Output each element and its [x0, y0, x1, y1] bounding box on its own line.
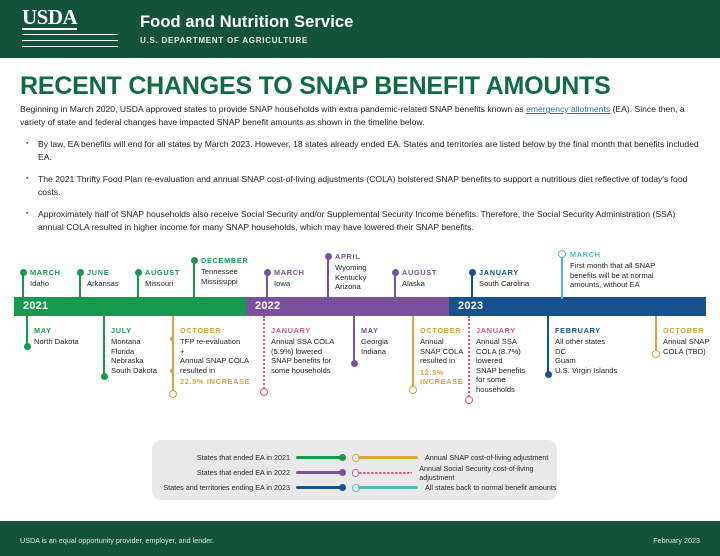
event-month: JULY — [111, 326, 181, 335]
timeline-dot-hollow — [169, 390, 177, 398]
legend-row-2022: States that ended EA in 2022 — [152, 466, 346, 479]
legend-row-2021: States that ended EA in 2021 — [152, 451, 346, 464]
timeline-stem — [26, 316, 28, 346]
timeline-dot — [325, 253, 332, 260]
timeline-dot-hollow — [558, 250, 566, 258]
event-january-2023-ssa-cola: JANUARY Annual SSA COLA (8.7%) lowered S… — [476, 326, 536, 395]
timeline-stem — [327, 256, 329, 299]
timeline-bar-2023: 2023 — [449, 297, 706, 316]
intro-paragraph: Beginning in March 2020, USDA approved s… — [20, 103, 700, 129]
timeline-dot-hollow — [652, 350, 660, 358]
event-august-2021: AUGUST Missouri — [145, 268, 205, 289]
timeline-dot-hollow — [409, 386, 417, 394]
event-body: TFP re-evaluation + Annual SNAP COLA res… — [180, 337, 252, 375]
footer-bar: USDA is an equal opportunity provider, e… — [0, 526, 720, 556]
event-body: North Dakota — [34, 337, 104, 347]
timeline-stem — [547, 316, 549, 374]
timeline-stem — [561, 255, 563, 299]
year-label-2023: 2023 — [458, 300, 483, 312]
event-august-2022: AUGUST Alaska — [402, 268, 457, 289]
event-highlight: 22.5% INCREASE — [180, 377, 252, 386]
legend-dot — [339, 469, 346, 476]
event-january-2022-ssa-cola: JANUARY Annual SSA COLA (5.9%) lowered S… — [271, 326, 349, 375]
event-month: JANUARY — [476, 326, 536, 335]
event-body: Alaska — [402, 279, 457, 289]
event-body: First month that all SNAP benefits will … — [570, 261, 700, 290]
timeline-dot — [351, 360, 358, 367]
timeline-stem — [137, 272, 139, 299]
legend-line-solid — [296, 456, 342, 458]
event-body: Iowa — [274, 279, 329, 289]
event-month: JANUARY — [271, 326, 349, 335]
event-month: DECEMBER — [201, 256, 261, 265]
infographic-page: USDA Food and Nutrition Service U.S. DEP… — [0, 0, 720, 556]
timeline-stem — [22, 272, 24, 299]
event-month: AUGUST — [145, 268, 205, 277]
usda-header-bar: USDA Food and Nutrition Service U.S. DEP… — [0, 0, 720, 58]
event-october-2021-snap-cola: OCTOBER TFP re-evaluation + Annual SNAP … — [180, 326, 252, 388]
event-body: Annual SSA COLA (8.7%) lowered SNAP bene… — [476, 337, 536, 395]
timeline-dot — [101, 373, 108, 380]
event-body: Wyoming Kentucky Arizona — [335, 263, 393, 292]
legend-line-solid — [296, 486, 342, 488]
event-body: Georgia Indiana — [361, 337, 416, 356]
timeline-dot — [392, 269, 399, 276]
legend-row-normal: All states back to normal benefit amount… — [352, 481, 556, 494]
event-month: JANUARY — [479, 268, 549, 277]
timeline-stem — [103, 316, 105, 376]
legend-row-ssa-cola: Annual Social Security cost-of-living ad… — [352, 466, 557, 479]
legend-label: States that ended EA in 2022 — [152, 468, 290, 477]
timeline-dot — [264, 269, 271, 276]
legend-line-solid — [358, 486, 418, 488]
legend-label: States and territories ending EA in 2023 — [152, 483, 290, 492]
event-body: Missouri — [145, 279, 205, 289]
timeline-dot — [469, 269, 476, 276]
year-label-2022: 2022 — [255, 300, 280, 312]
intro-text-before: Beginning in March 2020, USDA approved s… — [20, 104, 526, 114]
agency-name: Food and Nutrition Service — [140, 13, 353, 32]
timeline-dot-hollow — [260, 388, 268, 396]
usda-swoosh-icon — [22, 33, 118, 52]
timeline-stem — [471, 272, 473, 299]
list-item: By law, EA benefits will end for all sta… — [24, 138, 702, 164]
event-month: APRIL — [335, 252, 393, 261]
legend-dot — [339, 454, 346, 461]
timeline-stem — [412, 316, 414, 390]
legend-line-dashed — [359, 472, 412, 474]
event-march-2022: MARCH Iowa — [274, 268, 329, 289]
timeline-dot — [135, 269, 142, 276]
timeline: 2021 2022 2023 MARCH Idaho JUNE Arkansas… — [0, 244, 720, 424]
legend-label: States that ended EA in 2021 — [152, 453, 290, 462]
legend-dot — [339, 484, 346, 491]
event-month: FEBRUARY — [555, 326, 645, 335]
legend-line-solid — [296, 471, 342, 473]
event-february-2023: FEBRUARY All other states DC Guam U.S. V… — [555, 326, 645, 375]
event-month: MAY — [361, 326, 416, 335]
event-month: AUGUST — [402, 268, 457, 277]
timeline-dot — [545, 371, 552, 378]
event-december-2021: DECEMBER Tennessee Mississippi — [201, 256, 261, 286]
department-name: U.S. DEPARTMENT OF AGRICULTURE — [140, 36, 353, 45]
timeline-stem — [394, 272, 396, 299]
header-text-block: Food and Nutrition Service U.S. DEPARTME… — [126, 13, 353, 45]
timeline-tick — [170, 337, 174, 341]
timeline-stem — [266, 272, 268, 299]
legend-label: All states back to normal benefit amount… — [425, 483, 556, 492]
timeline-dot-hollow — [465, 396, 473, 404]
legend-label: Annual SNAP cost-of-living adjustment — [425, 453, 548, 462]
event-may-2022: MAY Georgia Indiana — [361, 326, 416, 356]
event-body: Tennessee Mississippi — [201, 267, 261, 286]
timeline-dot — [20, 269, 27, 276]
event-july-2021: JULY Montana Florida Nebraska South Dako… — [111, 326, 181, 375]
event-body: Idaho — [30, 279, 90, 289]
timeline-stem — [353, 316, 355, 363]
event-body: South Carolina — [479, 279, 549, 289]
timeline-bar-2022: 2022 — [246, 297, 449, 316]
timeline-dot — [77, 269, 84, 276]
event-body: All other states DC Guam U.S. Virgin Isl… — [555, 337, 645, 375]
timeline-tick — [170, 369, 174, 373]
list-item: The 2021 Thrifty Food Plan re-evaluation… — [24, 173, 702, 199]
event-body: Annual SSA COLA (5.9%) lowered SNAP bene… — [271, 337, 349, 375]
footer-eeo-statement: USDA is an equal opportunity provider, e… — [20, 536, 214, 545]
legend-row-2023: States and territories ending EA in 2023 — [152, 481, 346, 494]
bullet-list: By law, EA benefits will end for all sta… — [24, 138, 702, 243]
page-title: RECENT CHANGES TO SNAP BENEFIT AMOUNTS — [20, 72, 611, 101]
event-october-2023-snap-cola: OCTOBER Annual SNAP COLA (TBD) — [663, 326, 719, 356]
event-april-2022: APRIL Wyoming Kentucky Arizona — [335, 252, 393, 292]
event-january-2023: JANUARY South Carolina — [479, 268, 549, 289]
legend-box: States that ended EA in 2021 States that… — [152, 440, 557, 500]
timeline-dot — [24, 343, 31, 350]
event-month: MAY — [34, 326, 104, 335]
legend-dot-hollow — [352, 469, 359, 477]
event-month: MARCH — [274, 268, 329, 277]
timeline-stem — [79, 272, 81, 299]
year-label-2021: 2021 — [23, 300, 48, 312]
timeline-stem — [172, 316, 174, 394]
usda-logo: USDA — [22, 7, 126, 52]
legend-row-snap-cola: Annual SNAP cost-of-living adjustment — [352, 451, 548, 464]
legend-label: Annual Social Security cost-of-living ad… — [419, 464, 557, 482]
legend-line-solid — [358, 456, 418, 458]
usda-logo-text: USDA — [22, 7, 77, 30]
event-month: OCTOBER — [663, 326, 719, 335]
timeline-stem — [655, 316, 657, 354]
event-body: Annual SNAP COLA (TBD) — [663, 337, 719, 356]
emergency-allotments-link[interactable]: emergency allotments — [526, 104, 610, 114]
event-month: MARCH — [570, 250, 700, 259]
timeline-bar-2021: 2021 — [14, 297, 246, 316]
timeline-stem-dotted — [263, 316, 265, 392]
event-may-2021: MAY North Dakota — [34, 326, 104, 347]
event-month: OCTOBER — [180, 326, 252, 335]
timeline-stem-dotted — [468, 316, 470, 400]
footer-date: February 2023 — [653, 536, 700, 545]
event-march-2023-normal: MARCH First month that all SNAP benefits… — [570, 250, 700, 290]
list-item: Approximately half of SNAP households al… — [24, 208, 702, 234]
timeline-dot — [191, 257, 198, 264]
timeline-stem — [193, 260, 195, 299]
